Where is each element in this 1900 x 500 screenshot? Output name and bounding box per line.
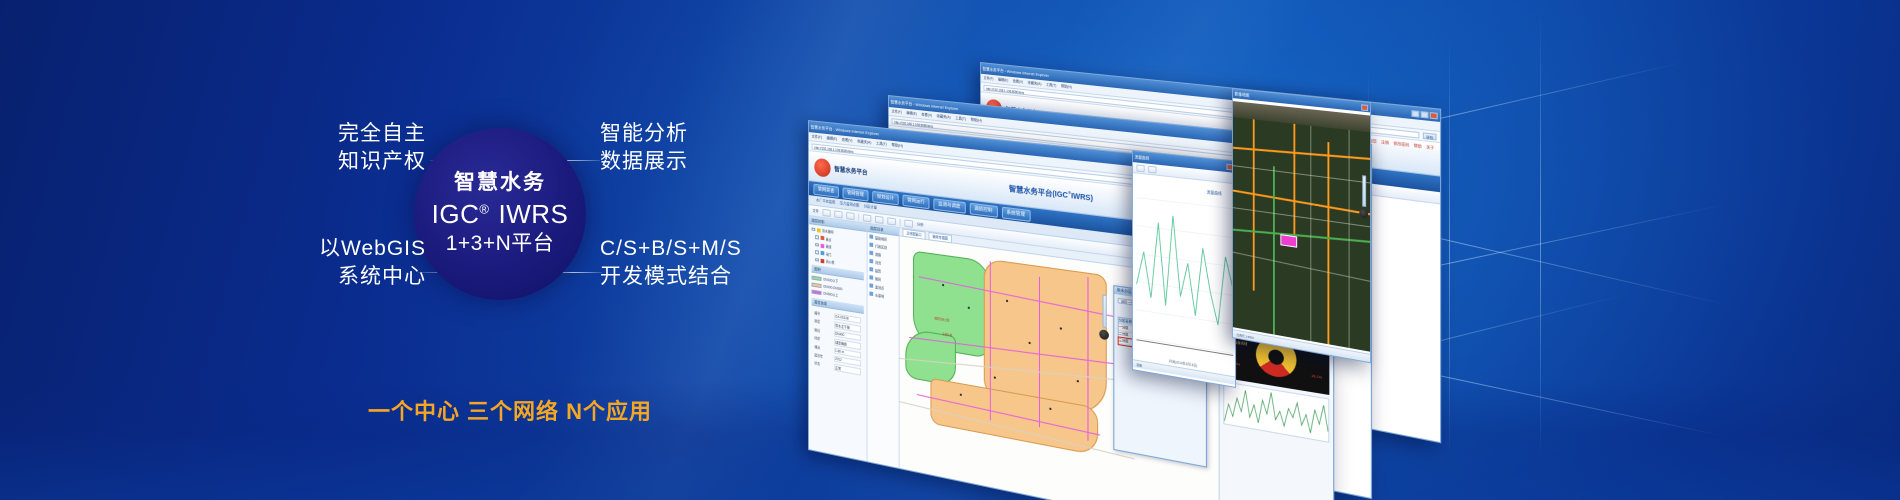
chart-window[interactable]: 流量曲线 流量曲线 时间(2014年3月18日) 就绪 [1132, 150, 1236, 388]
toolbar-separator [900, 218, 901, 225]
map-node[interactable] [994, 376, 996, 378]
map-node[interactable] [1060, 327, 1062, 329]
hub-chinese-title: 智慧水务 [454, 171, 546, 194]
toolbar-label[interactable]: 文件 [813, 208, 819, 214]
satellite-map-canvas[interactable] [1233, 101, 1370, 352]
tree-item-label: 管点 [826, 236, 832, 242]
checkbox[interactable] [815, 243, 818, 247]
satellite-road-minor [1349, 130, 1350, 348]
status-left: 就绪 [1137, 362, 1142, 367]
map-node[interactable] [1029, 342, 1031, 344]
tree-item-label: 管线 [826, 243, 832, 249]
map-pipeline [990, 261, 991, 420]
toolbar-icon[interactable] [822, 208, 830, 216]
layer-label: 水源地 [875, 292, 884, 299]
point-layer-icon [820, 236, 824, 241]
select-icon[interactable] [875, 215, 883, 223]
layer-icon [869, 267, 873, 272]
folder-icon [817, 228, 821, 233]
export-icon[interactable] [1148, 165, 1156, 173]
feature-line-1: 智能分析 [600, 120, 688, 148]
subnav-item[interactable]: 分区计量 [864, 204, 877, 211]
feature-line-1: 完全自主 [306, 120, 426, 148]
map-node[interactable] [942, 284, 944, 286]
satellite-road-green [1273, 166, 1274, 339]
hydrant-layer-icon [820, 258, 824, 263]
feature-bottom-right: C/S+B/S+M/S 开发模式结合 [600, 235, 742, 290]
menu-item[interactable]: 编辑(E) [827, 135, 838, 141]
layer-label: 监测点 [875, 284, 884, 290]
layer-catalog-panel[interactable]: 图层目录 基础地形 行政区划 道路 河流 建筑 管网 监测点 水源地 [868, 224, 900, 478]
platform-diagram: 智慧水务 IGC®IWRS 1+3+N平台 完全自主 知识产权 以WebGIS … [0, 0, 820, 500]
feature-line-2: 数据展示 [600, 148, 688, 176]
toolbar-label[interactable]: 分析 [917, 222, 924, 228]
tagline: 一个中心 三个网络 N个应用 [300, 394, 720, 426]
menu-item[interactable]: 帮助(H) [1061, 84, 1072, 90]
map-node[interactable] [1077, 380, 1079, 382]
window-controls[interactable] [1361, 104, 1368, 111]
feature-line-2: 开发模式结合 [600, 263, 742, 291]
satellite-map-window[interactable]: 影像地图 比例尺 [1232, 88, 1371, 363]
chart-title: 流量曲线 [1207, 189, 1222, 197]
zoom-out-icon[interactable] [846, 211, 854, 219]
platform-title-prefix: 智慧水务平台(IGC [1009, 186, 1068, 200]
subnav-item[interactable]: 压力监测点图 [840, 201, 859, 209]
menu-item[interactable]: 收藏夹(A) [857, 139, 871, 146]
map-node[interactable] [960, 394, 962, 396]
menu-item[interactable]: 工具(T) [955, 115, 966, 121]
brand-link[interactable]: 修改密码 [1393, 141, 1409, 148]
map-node[interactable] [1006, 300, 1008, 302]
menu-item[interactable]: 帮助(H) [971, 117, 982, 123]
menu-item[interactable]: 查看(V) [1013, 79, 1023, 85]
map-pipeline [1039, 277, 1040, 428]
sparkline-series [1224, 385, 1328, 439]
platform-hub-circle: 智慧水务 IGC®IWRS 1+3+N平台 [414, 128, 586, 300]
layer-label: 基础地形 [875, 235, 887, 242]
satellite-road-main [1253, 119, 1255, 290]
hub-code-left: IGC [432, 199, 480, 229]
status-left: 就绪 [813, 462, 818, 467]
map-node[interactable] [1049, 408, 1051, 410]
registered-mark-icon: ® [479, 201, 489, 216]
checkbox[interactable] [815, 250, 818, 254]
screenshot-stack: 智慧水务平台 - Windows Internet Explorer 文件(F)… [780, 0, 1680, 500]
flow-chart: 流量曲线 时间(2014年3月18日) [1133, 173, 1235, 376]
map-node[interactable] [968, 307, 970, 309]
layer-label: 行政区划 [875, 243, 887, 250]
legend-label: DN100以下 [823, 276, 838, 283]
menu-item[interactable]: 工具(T) [876, 141, 887, 147]
menu-item[interactable]: 收藏夹(A) [1028, 80, 1042, 86]
platform-title-suffix: IWRS) [1071, 193, 1093, 203]
layer-icon [869, 259, 873, 264]
close-button[interactable] [1430, 111, 1438, 119]
tree-item-label: 消火栓 [826, 259, 835, 265]
pan-pad-icon[interactable] [1359, 208, 1368, 219]
zoom-in-icon[interactable] [834, 210, 842, 218]
feature-top-right: 智能分析 数据展示 [600, 120, 688, 175]
checkbox[interactable] [812, 227, 815, 231]
attribute-key: 状态 [814, 360, 832, 370]
status-center: 坐标: 116.404, 39.915 [823, 465, 850, 475]
menu-item[interactable]: 帮助(H) [892, 142, 903, 148]
legend-swatch [812, 275, 822, 281]
layer-tree-body[interactable]: 供水管网 管点 管线 [809, 224, 867, 471]
maximize-button[interactable] [1421, 110, 1429, 117]
brand-link[interactable]: 帮助 [1414, 144, 1422, 150]
chart-series-line [1137, 212, 1234, 328]
refresh-icon[interactable] [1137, 164, 1145, 172]
menu-item[interactable]: 文件(F) [892, 109, 902, 115]
feature-line-2: 系统中心 [300, 263, 426, 291]
brand-link[interactable]: 注销 [1381, 140, 1389, 146]
titlebar-title: 流量曲线 [1135, 154, 1149, 162]
layer-label: 道路 [875, 251, 881, 257]
pan-pad-icon[interactable] [1099, 329, 1109, 340]
zoom-slider[interactable] [1362, 175, 1366, 207]
layer-icon [869, 291, 873, 296]
valve-layer-icon [820, 251, 824, 256]
map-zoom-control[interactable] [1359, 175, 1368, 219]
chart-svg [1137, 192, 1234, 358]
window-controls[interactable] [1411, 110, 1437, 119]
feature-bottom-left: 以WebGIS 系统中心 [300, 235, 426, 290]
layer-icon [869, 242, 873, 247]
layer-icon [869, 234, 873, 239]
map-zoom-control[interactable] [1099, 294, 1109, 340]
hub-subtitle: 1+3+N平台 [446, 231, 555, 256]
layer-label: 建筑 [875, 267, 881, 273]
menu-item[interactable]: 收藏夹(A) [937, 114, 951, 121]
legend-swatch [812, 289, 822, 295]
layer-icon [869, 283, 873, 288]
legend-label: DN100-DN300 [823, 284, 842, 291]
satellite-road-main [1293, 124, 1295, 247]
menu-item[interactable]: 文件(F) [812, 134, 822, 140]
close-button[interactable] [1361, 104, 1368, 111]
satellite-road-main [1327, 142, 1329, 349]
map-pipeline [1087, 277, 1088, 441]
measure-icon[interactable] [887, 217, 896, 225]
titlebar-title: 影像地图 [1235, 91, 1249, 99]
menu-item[interactable]: 文件(F) [983, 75, 993, 81]
chart-x-axis [1137, 340, 1234, 356]
tree-item-label: 供水管网 [822, 228, 834, 235]
menu-item[interactable]: 查看(V) [921, 112, 932, 118]
platform-title: 智慧水务平台(IGC®IWRS) [1009, 183, 1093, 204]
zoom-slider[interactable] [1102, 294, 1106, 328]
satellite-road-minor [1310, 126, 1311, 342]
minimize-button[interactable] [1411, 110, 1419, 117]
legend-label: DN300以上 [823, 290, 838, 297]
attribute-list: 编号 GX-00128 类型 供水主干管 管径 DN400 [812, 308, 864, 381]
menu-item[interactable]: 工具(T) [1046, 82, 1056, 88]
hub-product-code: IGC®IWRS [432, 200, 569, 230]
go-button[interactable]: 转到 [1423, 132, 1437, 140]
feature-line-1: C/S+B/S+M/S [600, 235, 742, 263]
checkbox[interactable] [815, 258, 818, 262]
tree-item-label: 阀门 [826, 251, 832, 257]
layer-label: 管网 [875, 275, 881, 281]
print-icon[interactable] [904, 219, 913, 227]
layer-tree-panel: 图层控制 供水管网 管点 [809, 216, 868, 471]
gauge-right-value: 26.1% [1312, 373, 1322, 379]
pan-icon[interactable] [863, 214, 871, 222]
line-layer-icon [820, 243, 824, 248]
status-text: 比例尺 1:5000 [1237, 332, 1254, 339]
company-logo-icon [814, 157, 830, 177]
toolbar-separator [858, 213, 859, 220]
banner-root: 智慧水务 IGC®IWRS 1+3+N平台 完全自主 知识产权 以WebGIS … [0, 0, 1900, 500]
layer-icon [869, 251, 873, 256]
feature-top-left: 完全自主 知识产权 [306, 120, 426, 175]
hub-code-right: IWRS [498, 199, 568, 229]
menu-item[interactable]: 查看(V) [842, 137, 853, 143]
checkbox[interactable] [815, 235, 818, 239]
layer-label: 河流 [875, 259, 881, 265]
selected-parcel-highlight[interactable] [1280, 234, 1297, 248]
menu-item[interactable]: 编辑(E) [998, 77, 1008, 83]
layer-icon [869, 275, 873, 280]
feature-line-2: 知识产权 [306, 148, 426, 176]
brand-link[interactable]: 关于 [1426, 145, 1434, 151]
feature-line-1: 以WebGIS [300, 235, 426, 263]
menu-item[interactable]: 编辑(E) [906, 110, 917, 116]
brand-name: 智慧水务平台 [834, 164, 867, 177]
subnav-item[interactable]: 水厂平台监视 [816, 198, 835, 205]
status-right: 100% [856, 472, 863, 478]
legend-swatch [812, 282, 822, 288]
